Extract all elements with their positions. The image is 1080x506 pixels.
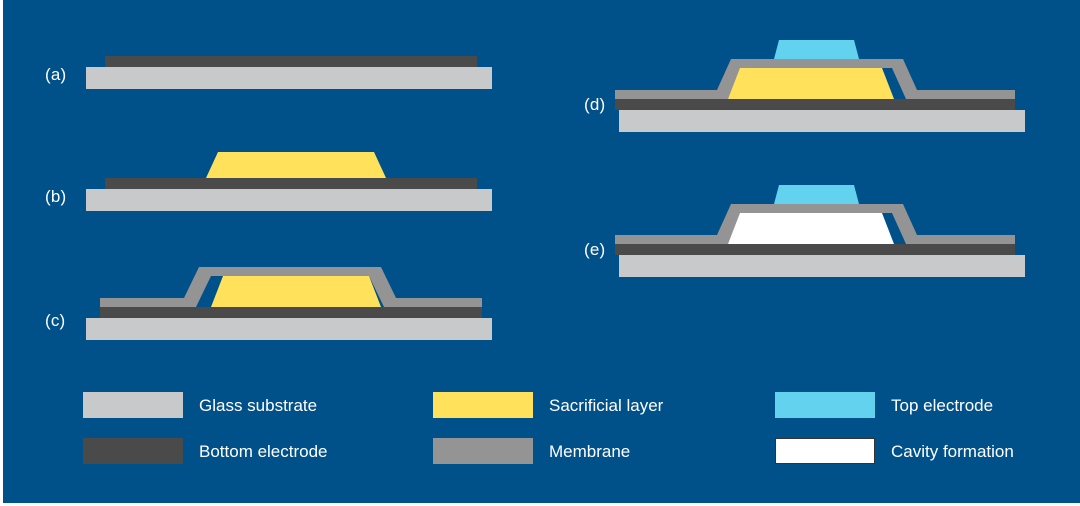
legend-label-glass-substrate: Glass substrate [199,397,317,414]
legend-item-sacrificial-layer: Sacrificial layer [433,392,663,418]
cavity-formation-shape [728,213,894,244]
legend-item-top-electrode: Top electrode [775,392,993,418]
glass-substrate-layer [86,67,492,89]
glass-substrate-layer [619,110,1025,132]
legend-swatch-cavity-formation [775,438,875,464]
legend-swatch-bottom-electrode [83,438,183,464]
bottom-electrode-layer [105,56,477,67]
legend: Glass substrate Bottom electrode Sacrifi… [83,392,1033,467]
glass-substrate-layer [86,318,492,340]
sacrificial-layer-shape [728,68,894,99]
panel-c: (c) [0,258,540,378]
legend-label-membrane: Membrane [549,443,630,460]
panel-b-stack [0,132,540,252]
top-electrode-shape [774,185,859,204]
legend-item-membrane: Membrane [433,438,630,464]
bottom-electrode-layer [100,307,482,318]
legend-swatch-membrane [433,438,533,464]
legend-item-glass-substrate: Glass substrate [83,392,317,418]
panel-b: (b) [0,132,540,252]
legend-swatch-glass-substrate [83,392,183,418]
bottom-electrode-layer [615,244,1015,255]
panel-e: (e) [540,165,1080,285]
glass-substrate-layer [619,255,1025,277]
legend-item-cavity-formation: Cavity formation [775,438,1014,464]
legend-swatch-top-electrode [775,392,875,418]
panel-d-stack [540,20,1080,140]
legend-label-sacrificial-layer: Sacrificial layer [549,397,663,414]
panel-d: (d) [540,20,1080,140]
legend-label-top-electrode: Top electrode [891,397,993,414]
top-electrode-shape [774,40,859,59]
bottom-electrode-layer [615,99,1015,110]
figure-canvas: (a) (b) (c) [0,0,1080,506]
panel-a: (a) [0,0,540,120]
sacrificial-layer-shape [206,152,386,178]
legend-label-cavity-formation: Cavity formation [891,443,1014,460]
panel-c-stack [0,258,540,378]
glass-substrate-layer [86,189,492,211]
legend-label-bottom-electrode: Bottom electrode [199,443,328,460]
bottom-electrode-layer [105,178,477,189]
panel-e-stack [540,165,1080,285]
legend-swatch-sacrificial-layer [433,392,533,418]
panel-a-stack [0,0,540,120]
sacrificial-layer-shape [211,276,381,307]
legend-item-bottom-electrode: Bottom electrode [83,438,328,464]
